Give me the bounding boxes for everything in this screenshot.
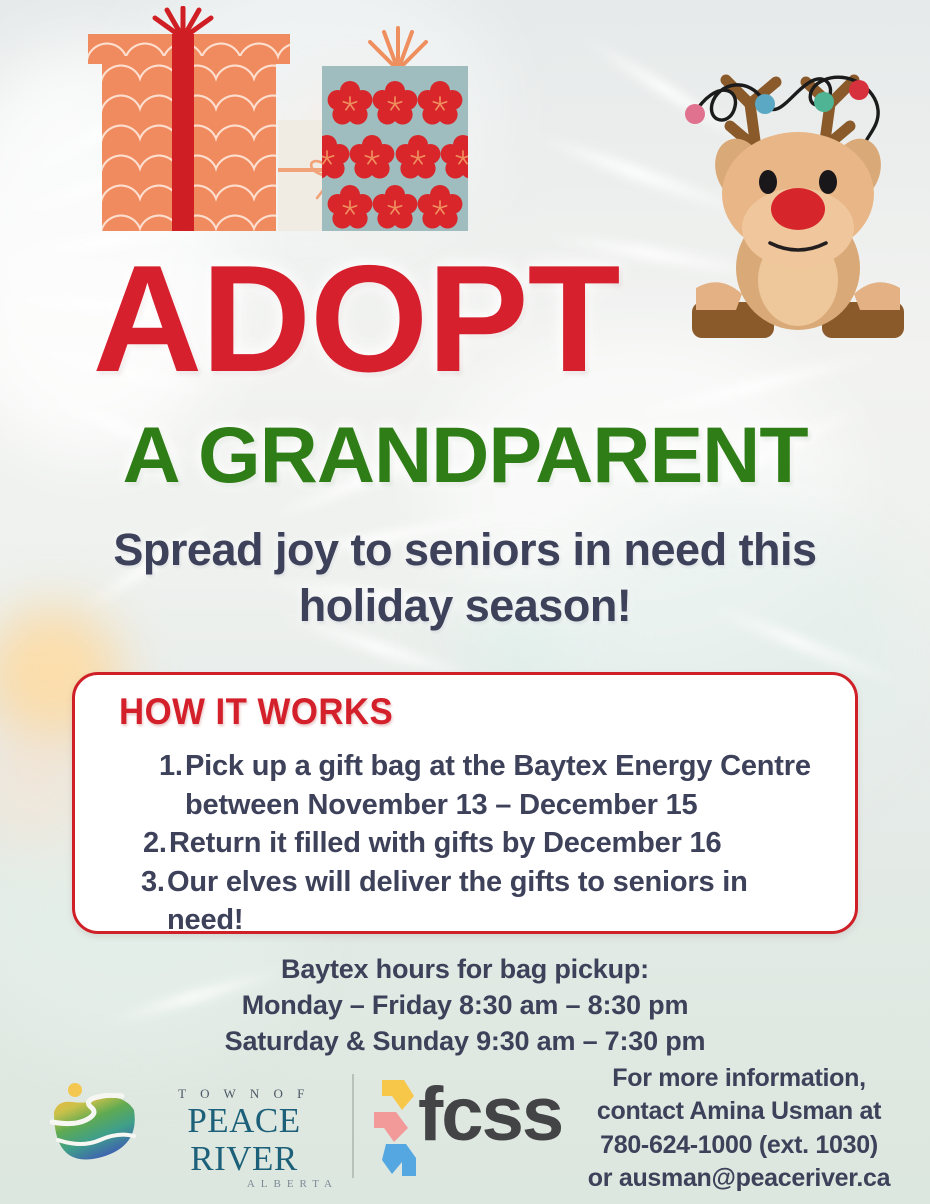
reindeer-eye-right xyxy=(819,170,837,194)
how-it-works-title: HOW IT WORKS xyxy=(119,691,393,733)
light-bulb-blue xyxy=(755,94,775,114)
how-it-works-step-3: 3. Our elves will deliver the gifts to s… xyxy=(137,863,831,940)
gift-boxes-illustration xyxy=(88,8,478,240)
reindeer-eye-left xyxy=(759,170,777,194)
step-2-text: Return it filled with gifts by December … xyxy=(169,824,831,863)
step-1-text-line2: between November 13 – December 15 xyxy=(185,786,831,825)
peace-river-province: ALBERTA xyxy=(146,1178,342,1190)
peace-river-logo-icon xyxy=(48,1078,140,1170)
hours-weekday: Monday – Friday 8:30 am – 8:30 pm xyxy=(0,988,930,1024)
hours-weekend: Saturday & Sunday 9:30 am – 7:30 pm xyxy=(0,1024,930,1060)
poster-subtitle: Spread joy to seniors in need this holid… xyxy=(96,522,834,635)
how-it-works-step-1-continued: between November 13 – December 15 xyxy=(137,786,831,825)
how-it-works-list: 1. Pick up a gift bag at the Baytex Ener… xyxy=(137,747,831,940)
how-it-works-step-2: 2. Return it filled with gifts by Decemb… xyxy=(137,824,831,863)
step-1-number: 1. xyxy=(159,747,185,786)
contact-info-block: For more information, contact Amina Usma… xyxy=(574,1062,904,1195)
peace-river-town-of: T O W N O F xyxy=(146,1086,342,1102)
fcss-wordmark: fcss xyxy=(418,1078,562,1152)
gift-flower-pattern xyxy=(322,66,468,231)
headline-a-grandparent: A GRANDPARENT xyxy=(0,415,930,494)
peace-river-name: PEACE RIVER xyxy=(146,1102,342,1178)
contact-email: or ausman@peaceriver.ca xyxy=(574,1162,904,1195)
step-2-number: 2. xyxy=(143,824,169,863)
peace-river-wordmark: T O W N O F PEACE RIVER ALBERTA xyxy=(146,1086,342,1190)
reindeer-nose xyxy=(771,188,825,230)
contact-phone: 780-624-1000 (ext. 1030) xyxy=(574,1129,904,1162)
gift-red-bow-icon xyxy=(152,6,214,40)
step-1-text: Pick up a gift bag at the Baytex Energy … xyxy=(185,747,831,786)
poster-canvas: ADOPT A GRANDPARENT Spread joy to senior… xyxy=(0,0,930,1204)
hours-heading: Baytex hours for bag pickup: xyxy=(0,952,930,988)
gift-red-ribbon xyxy=(172,34,194,231)
step-3-number: 3. xyxy=(141,863,167,902)
footer-divider xyxy=(352,1074,354,1178)
how-it-works-step-1: 1. Pick up a gift bag at the Baytex Ener… xyxy=(137,747,831,786)
headline-adopt: ADOPT xyxy=(0,243,930,395)
contact-line-2: contact Amina Usman at xyxy=(574,1095,904,1128)
pickup-hours-block: Baytex hours for bag pickup: Monday – Fr… xyxy=(0,952,930,1060)
light-bulb-green xyxy=(814,92,834,112)
gift-teal-box xyxy=(322,66,468,231)
how-it-works-card: HOW IT WORKS 1. Pick up a gift bag at th… xyxy=(72,672,858,934)
contact-line-1: For more information, xyxy=(574,1062,904,1095)
light-bulb-red xyxy=(849,80,869,100)
light-bulb-pink xyxy=(685,104,705,124)
step-3-text: Our elves will deliver the gifts to seni… xyxy=(167,863,831,940)
